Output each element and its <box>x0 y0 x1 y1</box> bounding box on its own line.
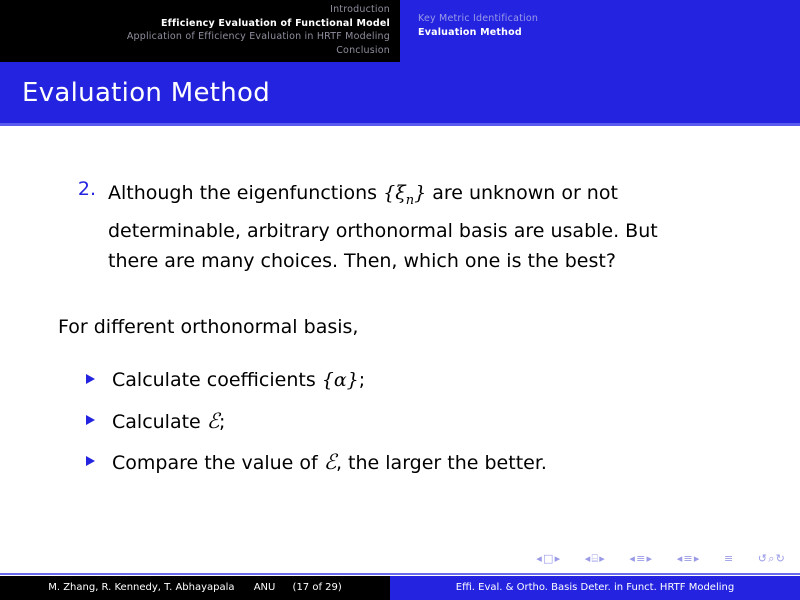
footer-institution: ANU <box>254 582 276 593</box>
bullet-text-3: Compare the value of ℰ, the larger the b… <box>112 452 547 474</box>
footer-paper-title: Effi. Eval. & Ortho. Basis Deter. in Fun… <box>390 576 800 600</box>
nav-subsection-key-metric-identification[interactable]: Key Metric Identification <box>418 12 794 26</box>
prev-frame-nav-icon[interactable]: ◂⌸▸ <box>585 552 606 566</box>
first-frame-nav-icon[interactable]: ◂□▸ <box>536 552 561 565</box>
slide-content: 2. Although the eigenfunctions {ξn} are … <box>0 126 800 556</box>
next-slide-nav-icon[interactable]: ◂≡▸ <box>677 552 701 565</box>
prev-slide-nav-icon[interactable]: ◂≡▸ <box>629 552 653 565</box>
bullet-1-text-after: ; <box>359 369 365 391</box>
bullet-2-text-before: Calculate <box>112 411 207 433</box>
enum-text-before-math: Although the eigenfunctions <box>108 182 383 204</box>
triangle-bullet-icon <box>86 415 95 425</box>
bullet-text-1: Calculate coefficients {α}; <box>112 369 365 391</box>
footer-authors: M. Zhang, R. Kennedy, T. Abhayapala <box>48 582 234 593</box>
document-nav-icon[interactable]: ≡ <box>724 552 734 565</box>
beamer-navigation-symbols[interactable]: ◂□▸ ◂⌸▸ ◂≡▸ ◂≡▸ ≡ ↺⌕↻ <box>0 552 800 572</box>
list-item: Compare the value of ℰ, the larger the b… <box>86 448 726 489</box>
math-xi-subscript: n <box>406 193 414 208</box>
footer-rule <box>0 573 800 575</box>
enumerated-item-text: Although the eigenfunctions {ξn} are unk… <box>108 178 695 276</box>
list-item: Calculate coefficients {α}; <box>86 366 726 407</box>
nav-section-application-of-efficiency-evaluation-in-hrtf-modeling[interactable]: Application of Efficiency Evaluation in … <box>6 30 390 44</box>
header-subsections-nav[interactable]: Key Metric Identification Evaluation Met… <box>400 0 800 62</box>
footer-bar: M. Zhang, R. Kennedy, T. Abhayapala ANU … <box>0 576 800 600</box>
nav-section-introduction[interactable]: Introduction <box>6 3 390 17</box>
bullet-list: Calculate coefficients {α}; Calculate ℰ;… <box>86 366 726 489</box>
bullet-1-text-before: Calculate coefficients <box>112 369 322 391</box>
bullet-3-math-script-a: ℰ <box>324 450 336 474</box>
math-xi-open: {ξ <box>383 182 406 204</box>
back-search-forward-nav-icon[interactable]: ↺⌕↻ <box>758 552 786 566</box>
footer-page-number: (17 of 29) <box>293 582 342 593</box>
bullet-2-text-after: ; <box>219 411 225 433</box>
triangle-bullet-icon <box>86 456 95 466</box>
bullet-3-text-after: , the larger the better. <box>336 452 547 474</box>
triangle-bullet-icon <box>86 374 95 384</box>
page-title: Evaluation Method <box>22 78 270 108</box>
enumerated-item-number: 2. <box>70 178 96 200</box>
lead-line-text: For different orthonormal basis, <box>58 316 358 338</box>
list-item: Calculate ℰ; <box>86 407 726 448</box>
math-xi-close: } <box>414 182 426 204</box>
header-sections-nav[interactable]: Introduction Efficiency Evaluation of Fu… <box>0 0 400 62</box>
bullet-1-math-alpha: {α} <box>322 369 359 391</box>
bullet-text-2: Calculate ℰ; <box>112 411 225 433</box>
bullet-3-text-before: Compare the value of <box>112 452 324 474</box>
nav-subsection-evaluation-method[interactable]: Evaluation Method <box>418 26 794 40</box>
enumerated-item-2: 2. Although the eigenfunctions {ξn} are … <box>70 178 695 276</box>
bullet-2-math-script-a: ℰ <box>207 409 219 433</box>
nav-section-conclusion[interactable]: Conclusion <box>6 44 390 58</box>
footer-left-block: M. Zhang, R. Kennedy, T. Abhayapala ANU … <box>0 576 390 600</box>
header-navigation-bar: Introduction Efficiency Evaluation of Fu… <box>0 0 800 62</box>
nav-section-efficiency-evaluation-of-functional-model[interactable]: Efficiency Evaluation of Functional Mode… <box>6 17 390 31</box>
